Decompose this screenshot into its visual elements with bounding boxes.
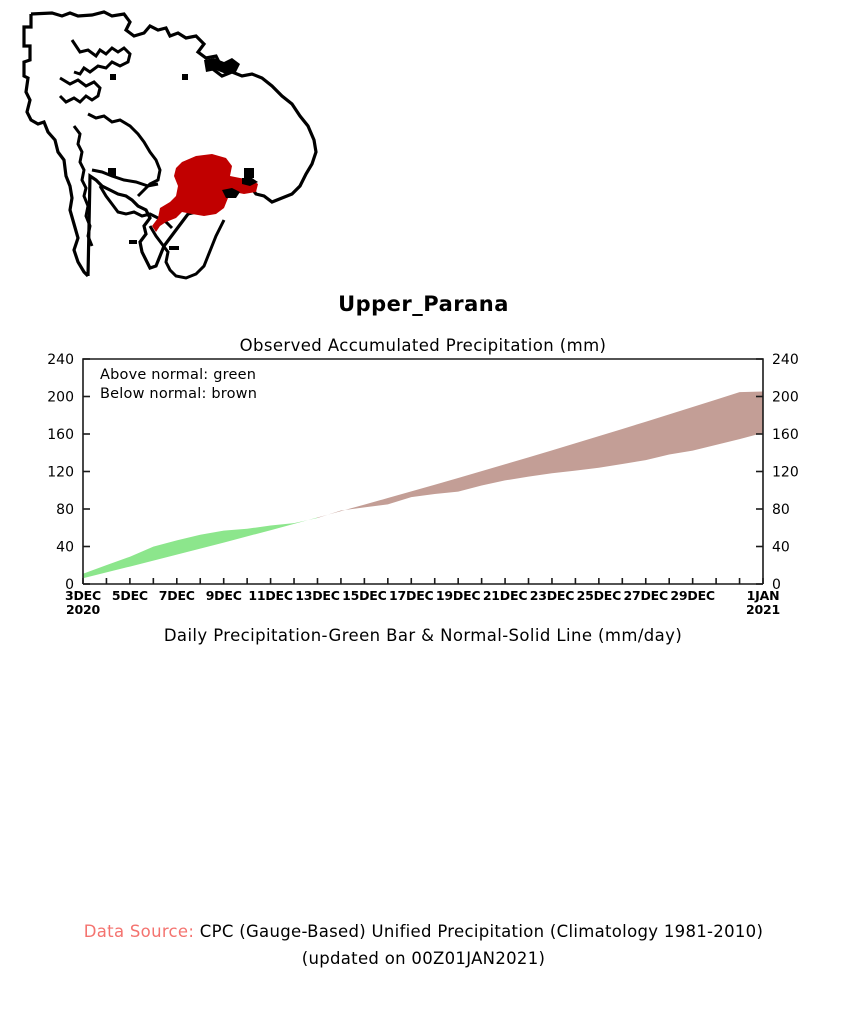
y-tick-label-right-1: 40 (772, 540, 790, 556)
accumulated-chart-title: Observed Accumulated Precipitation (mm) (240, 336, 607, 355)
x-tick-label-4: 11DEC (248, 588, 293, 603)
x-tick-label-5: 13DEC (295, 588, 340, 603)
south-america-map-svg (0, 0, 360, 290)
x-tick-label-11: 25DEC (577, 588, 622, 603)
x-start-year: 2020 (66, 602, 100, 617)
x-tick-label-8: 19DEC (436, 588, 481, 603)
x-tick-label-12: 27DEC (624, 588, 669, 603)
accumulated-precipitation-chart: Observed Accumulated Precipitation (mm)0… (0, 332, 847, 622)
y-tick-label-left-6: 240 (47, 352, 74, 368)
x-tick-label-3: 9DEC (206, 588, 242, 603)
x-tick-label-7: 17DEC (389, 588, 434, 603)
x-end-year: 2021 (746, 602, 780, 617)
y-tick-label-right-5: 200 (772, 390, 799, 406)
y-tick-label-left-4: 160 (47, 427, 74, 443)
x-tick-label-2: 7DEC (159, 588, 195, 603)
y-tick-label-left-2: 80 (56, 502, 74, 518)
daily-precipitation-chart: Daily Precipitation-Green Bar & Normal-S… (0, 622, 847, 912)
daily-chart-title: Daily Precipitation-Green Bar & Normal-S… (164, 626, 682, 645)
basin-location-map (0, 0, 360, 290)
x-tick-label-13: 29DEC (670, 588, 715, 603)
x-tick-label-9: 21DEC (483, 588, 528, 603)
x-tick-label-14: 1JAN (747, 588, 780, 603)
legend-item-0: Above normal: green (100, 367, 256, 383)
below-normal-band (317, 392, 763, 518)
above-normal-band (83, 518, 317, 579)
x-tick-label-6: 15DEC (342, 588, 387, 603)
y-tick-label-right-3: 120 (772, 465, 799, 481)
x-tick-label-10: 23DEC (530, 588, 575, 603)
y-tick-label-left-5: 200 (47, 390, 74, 406)
x-tick-label-0: 3DEC (65, 588, 101, 603)
y-tick-label-right-2: 80 (772, 502, 790, 518)
data-source-text: CPC (Gauge-Based) Unified Precipitation … (200, 922, 763, 941)
footer: Data Source: CPC (Gauge-Based) Unified P… (0, 918, 847, 972)
y-tick-label-left-1: 40 (56, 540, 74, 556)
map-background (0, 0, 360, 290)
accumulated-chart-svg: Observed Accumulated Precipitation (mm)0… (0, 332, 847, 622)
y-tick-label-right-6: 240 (772, 352, 799, 368)
y-tick-label-left-3: 120 (47, 465, 74, 481)
data-source-line: Data Source: CPC (Gauge-Based) Unified P… (0, 918, 847, 945)
updated-line: (updated on 00Z01JAN2021) (0, 945, 847, 972)
x-tick-label-1: 5DEC (112, 588, 148, 603)
data-source-label: Data Source: (84, 922, 194, 941)
legend-item-1: Below normal: brown (100, 386, 257, 402)
daily-chart-svg: Daily Precipitation-Green Bar & Normal-S… (0, 622, 847, 912)
page-title: Upper_Parana (0, 292, 847, 316)
y-tick-label-right-4: 160 (772, 427, 799, 443)
